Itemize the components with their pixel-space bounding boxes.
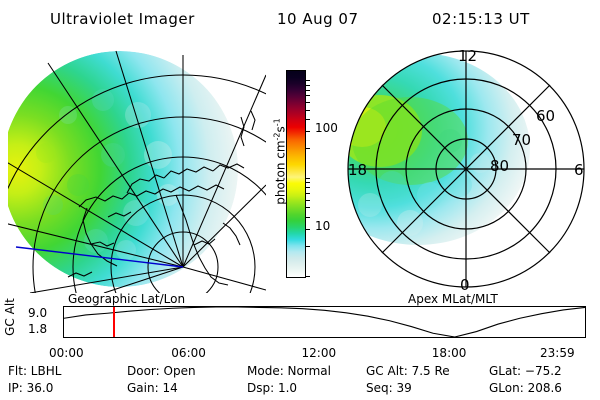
- apex-plot-svg: 12 18 6 0 60 70 80: [340, 45, 598, 293]
- status-gcalt: GC Alt: 7.5 Re: [366, 364, 450, 378]
- colorbar-tick: [306, 85, 310, 86]
- colorbar-tick: [306, 276, 310, 277]
- right-panel-caption: Apex MLat/MLT: [408, 292, 498, 306]
- colorbar-tick: [306, 246, 310, 247]
- gcalt-trace-line: [64, 307, 585, 337]
- colorbar-ticks: [306, 70, 314, 278]
- colorbar-tick: [306, 110, 310, 111]
- gcalt-tick-high: 9.0: [28, 306, 47, 320]
- mlt-label-18: 18: [348, 161, 367, 179]
- orbit-altitude-strip[interactable]: Geographic Lat/Lon Apex MLat/MLT GC Alt …: [0, 292, 600, 344]
- colorbar-tick: [306, 193, 310, 194]
- mlat-label-80: 80: [490, 157, 509, 175]
- time-cursor[interactable]: [113, 307, 115, 337]
- status-block: Flt: LBHL IP: 36.0 Door: Open Gain: 14 M…: [0, 364, 600, 398]
- colorbar-label-sup1: -2: [273, 132, 282, 140]
- colorbar-tick: [306, 182, 310, 183]
- gcalt-axis-label: GC Alt: [3, 293, 17, 341]
- mlat-label-60: 60: [536, 107, 555, 125]
- observation-date: 10 Aug 07: [277, 10, 359, 28]
- time-axis-tick: 06:00: [171, 346, 206, 360]
- observation-time: 02:15:13 UT: [432, 10, 530, 28]
- time-axis: 00:0006:0012:0018:0023:59: [0, 346, 600, 360]
- time-axis-tick: 12:00: [302, 346, 337, 360]
- status-glon: GLon: 208.6: [489, 381, 562, 395]
- colorbar-gradient: [287, 71, 305, 277]
- page-title: Ultraviolet Imager: [50, 10, 195, 28]
- mlat-label-70: 70: [512, 131, 531, 149]
- mlt-label-6: 6: [574, 161, 584, 179]
- colorbar-tick: [306, 229, 310, 230]
- colorbar-tick-label-10: 10: [315, 220, 330, 232]
- status-glat: GLat: −75.2: [489, 364, 562, 378]
- time-axis-tick: 18:00: [432, 346, 467, 360]
- colorbar-tick: [306, 80, 310, 81]
- colorbar-tick: [306, 217, 310, 218]
- status-dsp: Dsp: 1.0: [247, 381, 297, 395]
- colorbar-tick: [306, 119, 310, 120]
- status-seq: Seq: 39: [366, 381, 412, 395]
- left-panel-caption: Geographic Lat/Lon: [68, 292, 185, 306]
- aurora-emission-layer: [8, 51, 238, 287]
- aurora-emission-layer-mlt: [340, 53, 530, 245]
- colorbar: photon cm-2s-1 100 10: [262, 62, 346, 284]
- status-door: Door: Open: [127, 364, 196, 378]
- status-gain: Gain: 14: [127, 381, 178, 395]
- status-ip: IP: 36.0: [8, 381, 53, 395]
- apex-mlt-polar-plot[interactable]: 12 18 6 0 60 70 80: [340, 45, 598, 293]
- status-mode: Mode: Normal: [247, 364, 331, 378]
- colorbar-tick: [306, 187, 310, 188]
- gcalt-tick-low: 1.8: [28, 322, 47, 336]
- colorbar-gradient-box: [286, 70, 306, 278]
- colorbar-tick: [306, 207, 310, 208]
- geographic-plot-svg: [8, 45, 266, 293]
- colorbar-label-sup2: -1: [273, 118, 282, 126]
- time-axis-tick: 00:00: [49, 346, 84, 360]
- time-axis-tick: 23:59: [540, 346, 575, 360]
- header: Ultraviolet Imager 10 Aug 07 02:15:13 UT: [0, 6, 600, 32]
- mlt-dial-grid: [348, 51, 584, 287]
- colorbar-tick: [306, 90, 310, 91]
- colorbar-tick: [306, 148, 310, 149]
- colorbar-tick: [306, 200, 310, 201]
- colorbar-tick: [306, 131, 310, 132]
- gcalt-trace-svg: [64, 307, 585, 337]
- geographic-polar-plot[interactable]: [8, 45, 266, 293]
- colorbar-tick: [306, 102, 310, 103]
- uvi-summary-plot: Ultraviolet Imager 10 Aug 07 02:15:13 UT: [0, 0, 600, 400]
- colorbar-tick: [306, 178, 310, 179]
- colorbar-tick: [306, 95, 310, 96]
- gcalt-plot-area[interactable]: [63, 306, 586, 338]
- colorbar-tick-label-100: 100: [315, 122, 338, 134]
- mlt-label-12: 12: [458, 47, 477, 65]
- mlt-label-0: 0: [460, 276, 470, 293]
- status-filter: Flt: LBHL: [8, 364, 61, 378]
